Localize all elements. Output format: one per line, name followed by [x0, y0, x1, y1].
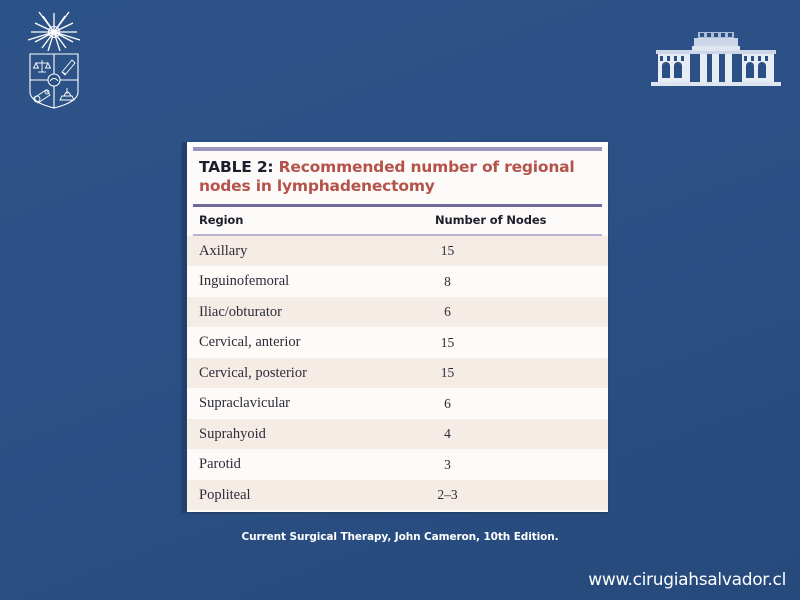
cell-number-of-nodes: 15 [415, 243, 608, 259]
cell-region: Inguinofemoral [187, 273, 415, 290]
figure-source-caption: Current Surgical Therapy, John Cameron, … [0, 531, 800, 543]
cell-region: Cervical, posterior [187, 365, 415, 382]
column-header-number-of-nodes: Number of Nodes [415, 213, 608, 227]
cell-number-of-nodes: 6 [415, 396, 608, 412]
table-row: Inguinofemoral8 [187, 266, 608, 297]
cell-number-of-nodes: 15 [415, 335, 608, 351]
shield-icon [30, 54, 78, 108]
cell-number-of-nodes: 3 [415, 457, 608, 473]
cell-number-of-nodes: 8 [415, 274, 608, 290]
table-row: Iliac/obturator6 [187, 297, 608, 328]
star-icon [28, 12, 80, 51]
table-title: TABLE 2: Recommended number of regional … [187, 151, 608, 204]
table-row: Suprahyoid4 [187, 419, 608, 450]
cell-region: Supraclavicular [187, 395, 415, 412]
slide-canvas: TABLE 2: Recommended number of regional … [0, 0, 800, 600]
cell-region: Suprahyoid [187, 426, 415, 443]
table-row: Supraclavicular6 [187, 388, 608, 419]
table-row: Cervical, anterior15 [187, 327, 608, 358]
cell-region: Cervical, anterior [187, 334, 415, 351]
central-portico [692, 32, 740, 82]
table-row: Cervical, posterior15 [187, 358, 608, 389]
left-wing [658, 54, 690, 82]
cell-number-of-nodes: 4 [415, 426, 608, 442]
cell-region: Popliteal [187, 487, 415, 504]
cell-region: Axillary [187, 243, 415, 260]
table-body: Axillary15Inguinofemoral8Iliac/obturator… [187, 236, 608, 511]
cell-region: Iliac/obturator [187, 304, 415, 321]
table-row: Popliteal2–3 [187, 480, 608, 511]
cell-number-of-nodes: 6 [415, 304, 608, 320]
right-wing [742, 54, 774, 82]
universidad-de-chile-crest-logo [18, 10, 90, 110]
cell-number-of-nodes: 15 [415, 365, 608, 381]
cell-number-of-nodes: 2–3 [415, 487, 608, 503]
table-number-label: TABLE 2: [199, 158, 273, 176]
table-header-row: Region Number of Nodes [187, 207, 608, 234]
hospital-building-logo [648, 30, 784, 92]
column-header-region: Region [187, 213, 415, 227]
table-row: Parotid3 [187, 449, 608, 480]
cell-region: Parotid [187, 456, 415, 473]
table-row: Axillary15 [187, 236, 608, 267]
table-figure: TABLE 2: Recommended number of regional … [182, 142, 608, 512]
website-url-footer: www.cirugiahsalvador.cl [588, 570, 786, 590]
